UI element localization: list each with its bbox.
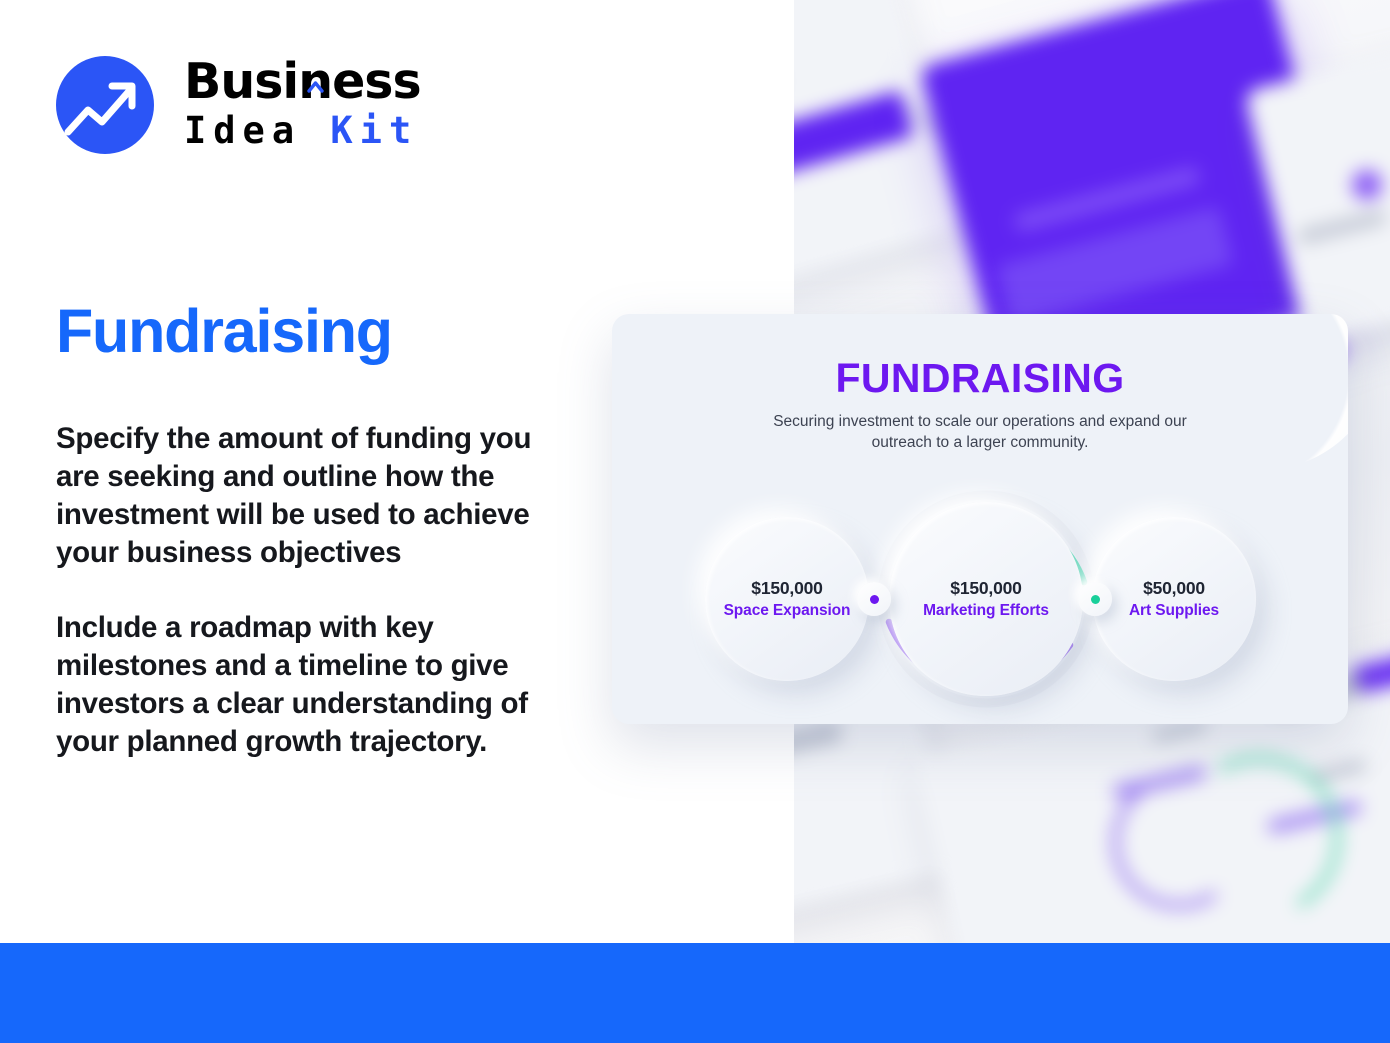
page-title: Fundraising (56, 296, 392, 366)
brand-logo[interactable]: Business Idea Kit (56, 56, 456, 160)
allocation-amount: $150,000 (950, 578, 1021, 599)
connector-dot-right (1078, 582, 1112, 616)
allocation-label: Art Supplies (1129, 602, 1219, 620)
brand-name-line1: Business (184, 56, 454, 108)
allocation-amount: $50,000 (1143, 578, 1205, 599)
bg-dot (1352, 170, 1382, 200)
allocation-amount: $150,000 (751, 578, 822, 599)
connector-dot-left (857, 582, 891, 616)
body-paragraph-1: Specify the amount of funding you are se… (56, 420, 568, 572)
card-subtitle: Securing investment to scale our operati… (770, 411, 1190, 453)
allocation-bubble-right[interactable]: $50,000 Art Supplies (1092, 517, 1256, 681)
funding-allocation-group: $150,000 Space Expansion $150,000 Market… (612, 494, 1348, 724)
card-title: FUNDRAISING (612, 355, 1348, 402)
footer-bar (0, 943, 1390, 1043)
body-paragraph-2: Include a roadmap with key milestones an… (56, 609, 568, 761)
chevron-accent-icon (307, 51, 324, 64)
allocation-label: Marketing Efforts (923, 602, 1049, 620)
growth-chart-arrow-icon (56, 56, 154, 154)
brand-wordmark: Business Idea Kit (184, 56, 454, 152)
brand-name-text: Business (184, 53, 421, 110)
allocation-bubble-center[interactable]: $150,000 Marketing Efforts (889, 502, 1083, 696)
slide-canvas: Business Idea Kit Fundraising Specify th… (0, 0, 1390, 1043)
allocation-label: Space Expansion (724, 602, 851, 620)
allocation-bubble-left[interactable]: $150,000 Space Expansion (705, 517, 869, 681)
brand-name-idea: Idea (184, 109, 301, 152)
brand-name-kit: Kit (330, 109, 418, 152)
brand-name-line2: Idea Kit (184, 110, 454, 152)
fundraising-card: FUNDRAISING Securing investment to scale… (612, 314, 1348, 724)
